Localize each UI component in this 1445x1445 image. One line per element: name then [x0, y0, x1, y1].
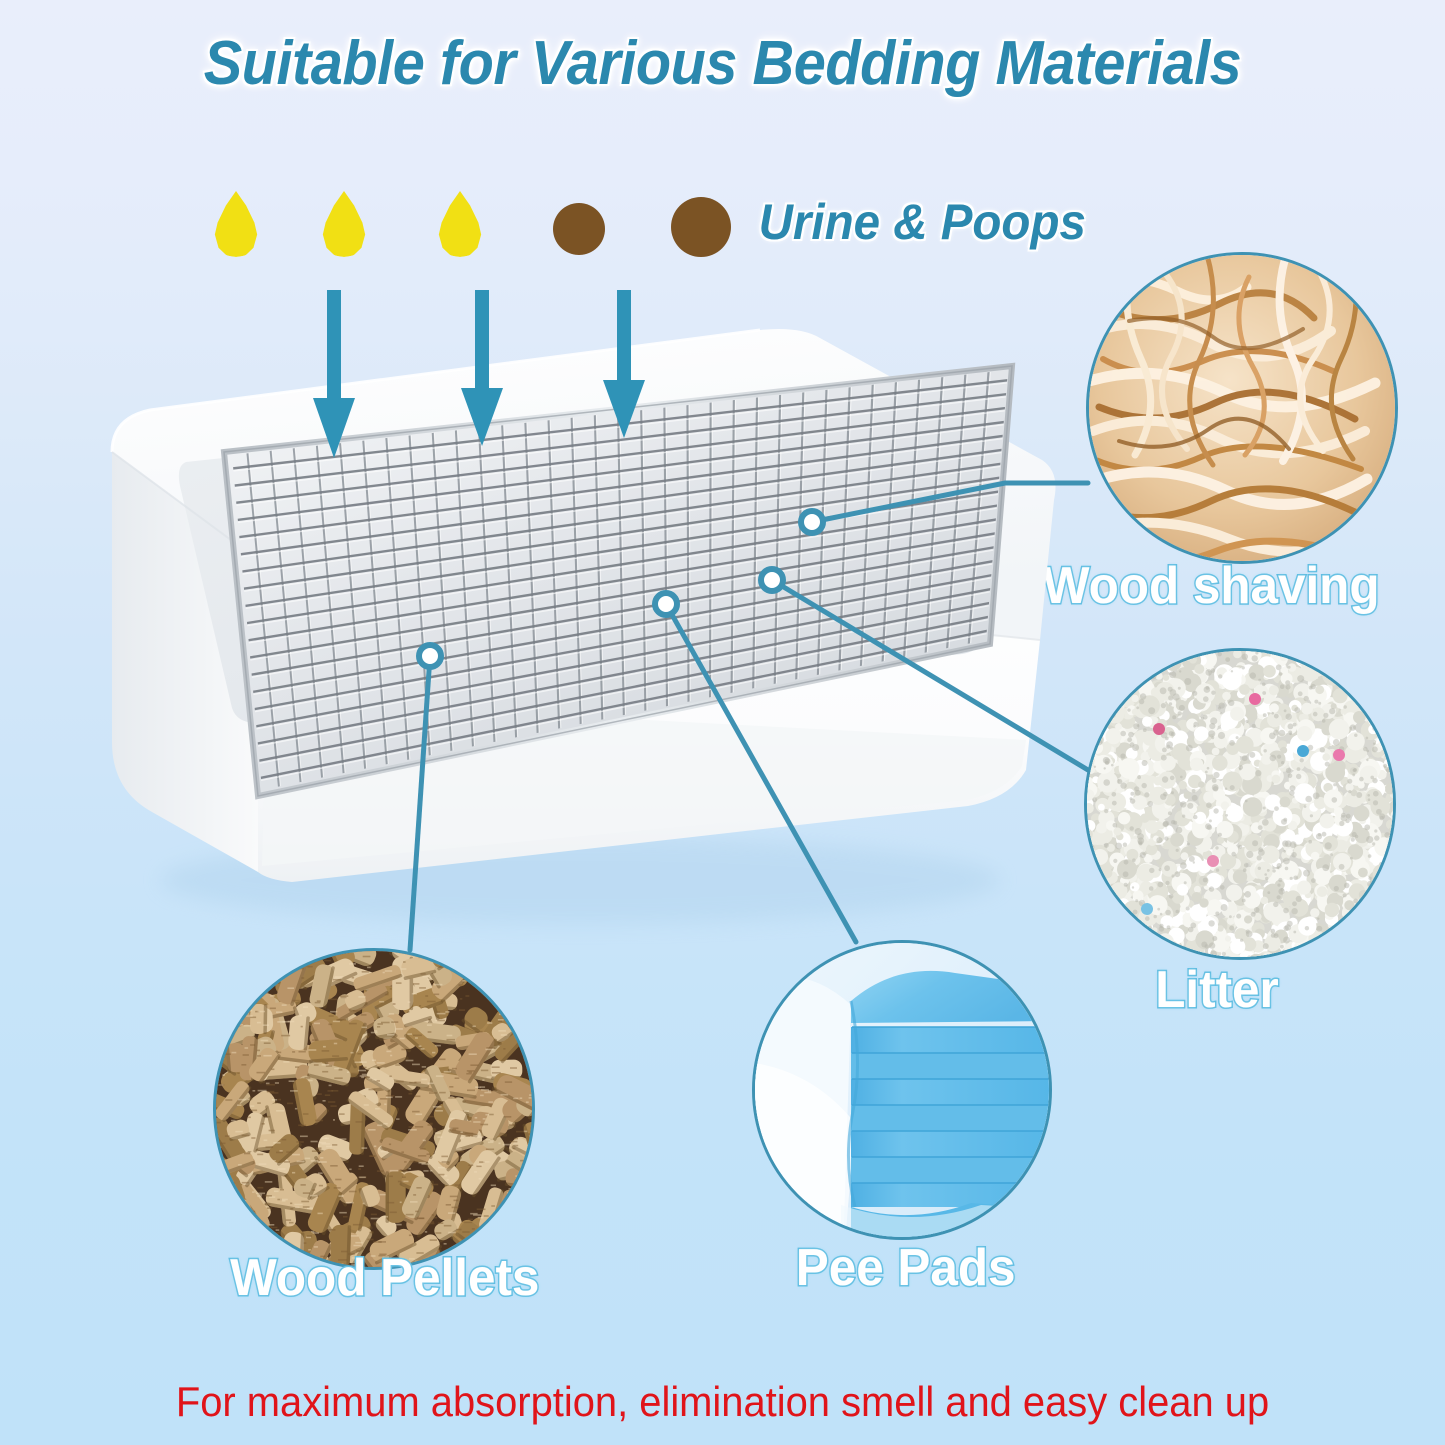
footer-caption: For maximum absorption, elimination smel… [36, 1378, 1409, 1426]
infographic-canvas: Suitable for Various Bedding Materials U… [0, 0, 1445, 1445]
product-illustration [0, 0, 1445, 1445]
